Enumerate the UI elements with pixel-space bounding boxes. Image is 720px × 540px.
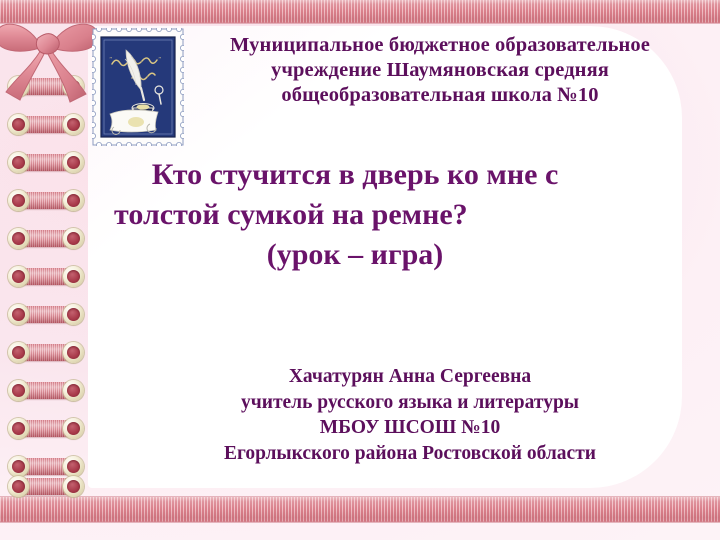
eyelet-icon	[8, 190, 29, 211]
slide-canvas: " " Муниципальное бюджетное обр	[0, 0, 720, 540]
eyelet-icon	[63, 476, 84, 497]
organization-title-line-2: учреждение Шаумяновская средняя	[186, 58, 694, 83]
eyelet-icon	[8, 266, 29, 287]
eyelet-icon	[8, 456, 29, 477]
lace-rung	[8, 114, 84, 135]
ribbon-band-bottom-edge-lower	[0, 521, 720, 523]
author-name: Хачатурян Анна Сергеевна	[150, 364, 670, 390]
eyelet-icon	[63, 266, 84, 287]
author-block: Хачатурян Анна Сергеевна учитель русског…	[150, 364, 670, 466]
eyelet-icon	[8, 228, 29, 249]
eyelet-icon	[63, 228, 84, 249]
eyelet-icon	[63, 114, 84, 135]
ribbon-band-top	[0, 0, 720, 23]
eyelet-icon	[63, 152, 84, 173]
ribbon-band-top-edge	[0, 22, 720, 24]
slide-main-title-subtitle: (урок – игра)	[110, 235, 600, 275]
lace-rung	[8, 152, 84, 173]
postage-stamp-logo: " "	[92, 28, 184, 146]
svg-text:": "	[158, 56, 161, 63]
eyelet-icon	[63, 342, 84, 363]
ribbon-bow-icon	[0, 14, 102, 110]
slide-main-title: Кто стучится в дверь ко мне с толстой су…	[110, 155, 600, 275]
eyelet-icon	[63, 380, 84, 401]
eyelet-icon	[63, 304, 84, 325]
organization-title-line-1: Муниципальное бюджетное образовательное	[186, 33, 694, 58]
lace-rung	[8, 190, 84, 211]
slide-main-title-line-1: Кто стучится в дверь ко мне с	[110, 155, 600, 195]
lace-rung	[8, 266, 84, 287]
eyelet-icon	[63, 190, 84, 211]
eyelet-icon	[8, 476, 29, 497]
eyelet-icon	[8, 342, 29, 363]
lace-rung	[8, 342, 84, 363]
lace-rung	[8, 380, 84, 401]
eyelet-icon	[8, 380, 29, 401]
author-school: МБОУ ШСОШ №10	[150, 415, 670, 441]
svg-text:": "	[109, 56, 112, 63]
eyelet-icon	[8, 114, 29, 135]
slide-main-title-line-2: толстой сумкой на ремне?	[110, 195, 600, 235]
eyelet-icon	[8, 304, 29, 325]
eyelet-icon	[63, 456, 84, 477]
eyelet-icon	[8, 418, 29, 439]
lace-rung	[8, 418, 84, 439]
author-position: учитель русского языка и литературы	[150, 390, 670, 416]
lace-rung	[8, 228, 84, 249]
eyelet-icon	[8, 152, 29, 173]
lace-rung	[8, 304, 84, 325]
ribbon-band-bottom	[0, 497, 720, 522]
author-region: Егорлыкского района Ростовской области	[150, 441, 670, 467]
lace-rung	[8, 476, 84, 497]
organization-title-line-3: общеобразовательная школа №10	[186, 83, 694, 108]
eyelet-icon	[63, 418, 84, 439]
organization-title: Муниципальное бюджетное образовательное …	[186, 33, 694, 108]
lace-rung	[8, 456, 84, 477]
